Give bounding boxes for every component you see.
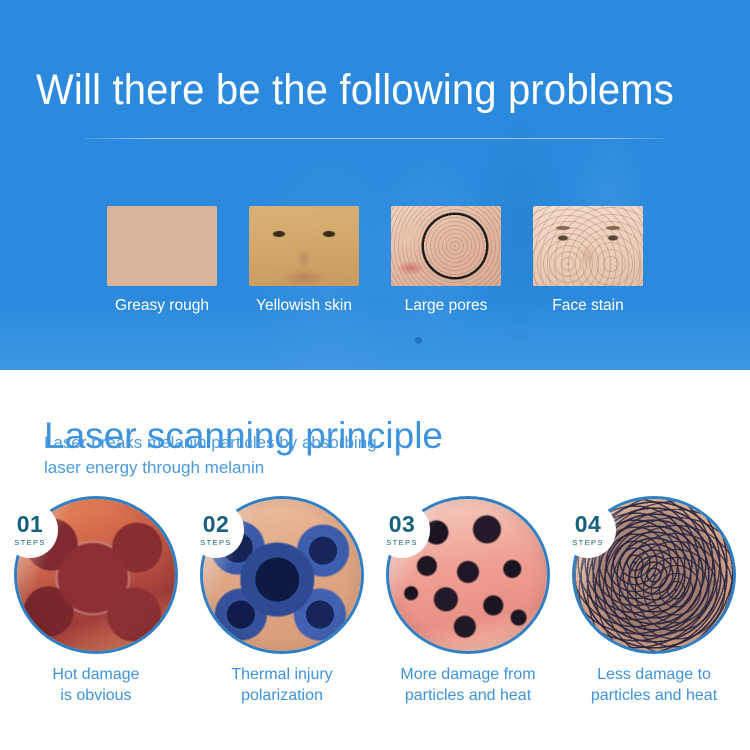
step-item-02[interactable]: 02 STEPS Thermal injury polarization: [192, 496, 372, 706]
step-caption-line-2: polarization: [231, 685, 332, 706]
problem-item-face-stain[interactable]: Face stain: [533, 206, 643, 326]
problem-item-yellowish-skin[interactable]: Yellowish skin: [249, 206, 359, 326]
principle-subtitle: Laser breaks melanin particles by absorb…: [44, 430, 377, 480]
step-01-caption: Hot damage is obvious: [52, 664, 139, 706]
step-caption-line-2: is obvious: [52, 685, 139, 706]
principle-subtitle-line-1: Laser breaks melanin particles by absorb…: [44, 430, 377, 455]
step-03-caption: More damage from particles and heat: [400, 664, 535, 706]
problem-label: Large pores: [405, 297, 488, 315]
step-steps-label: STEPS: [386, 539, 418, 547]
step-caption-line-1: Less damage to: [591, 664, 717, 685]
step-number: 04: [575, 513, 602, 536]
problem-label: Face stain: [552, 297, 624, 315]
step-item-01[interactable]: 01 STEPS Hot damage is obvious: [6, 496, 186, 706]
step-number: 03: [389, 513, 416, 536]
step-caption-line-1: Thermal injury: [231, 664, 332, 685]
step-01-badge: 01 STEPS: [2, 502, 58, 558]
step-steps-label: STEPS: [200, 539, 232, 547]
promo-page: Will there be the following problems Gre…: [0, 0, 750, 750]
problem-label: Greasy rough: [115, 297, 209, 315]
face-stain-image: [533, 206, 643, 286]
step-steps-label: STEPS: [572, 539, 604, 547]
step-02-caption: Thermal injury polarization: [231, 664, 332, 706]
step-03-badge: 03 STEPS: [374, 502, 430, 558]
problem-thumbnail-list: Greasy rough Yellowish skin Large pores …: [0, 206, 750, 326]
problem-item-large-pores[interactable]: Large pores: [391, 206, 501, 326]
step-steps-label: STEPS: [14, 539, 46, 547]
step-number: 02: [203, 513, 230, 536]
step-item-04[interactable]: 04 STEPS Less damage to particles and he…: [564, 496, 744, 706]
problem-item-greasy-rough[interactable]: Greasy rough: [107, 206, 217, 326]
step-caption-line-2: particles and heat: [591, 685, 717, 706]
hero-accent-dot: [415, 337, 422, 344]
problem-label: Yellowish skin: [256, 297, 352, 315]
hero-divider: [85, 138, 665, 139]
step-caption-line-1: Hot damage: [52, 664, 139, 685]
step-04-caption: Less damage to particles and heat: [591, 664, 717, 706]
step-caption-line-1: More damage from: [400, 664, 535, 685]
step-number: 01: [17, 513, 44, 536]
step-item-03[interactable]: 03 STEPS More damage from particles and …: [378, 496, 558, 706]
problems-section: Will there be the following problems Gre…: [0, 0, 750, 370]
large-pores-image: [391, 206, 501, 286]
greasy-rough-image: [107, 206, 217, 286]
step-caption-line-2: particles and heat: [400, 685, 535, 706]
principle-subtitle-line-2: laser energy through melanin: [44, 455, 377, 480]
step-04-badge: 04 STEPS: [560, 502, 616, 558]
step-02-badge: 02 STEPS: [188, 502, 244, 558]
steps-list: 01 STEPS Hot damage is obvious 02 STEPS: [0, 496, 750, 706]
laser-principle-section: Laser scanning principle Laser breaks me…: [0, 370, 750, 750]
yellowish-skin-image: [249, 206, 359, 286]
page-title: Will there be the following problems: [36, 63, 674, 117]
